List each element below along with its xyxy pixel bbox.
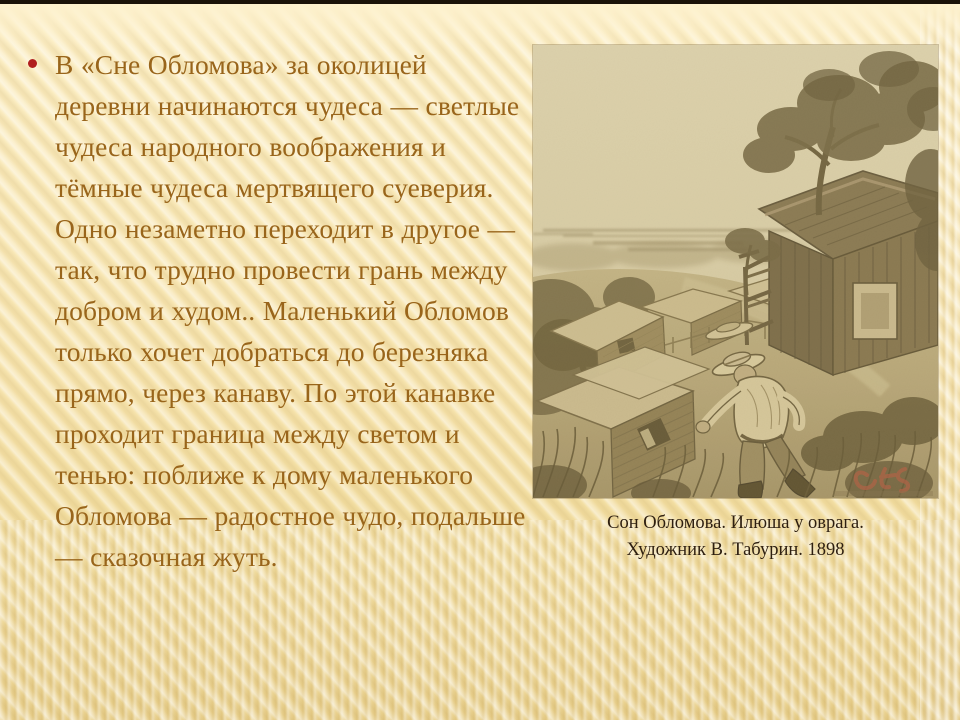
illustration-image — [533, 45, 938, 498]
illustration-caption: Сон Обломова. Илюша у оврага. Художник В… — [533, 510, 938, 564]
illustration-figure — [533, 45, 938, 498]
caption-line-1: Сон Обломова. Илюша у оврага. — [533, 510, 938, 537]
body-paragraph: В «Сне Обломова» за околицей деревни нач… — [55, 44, 528, 577]
bullet-list-item: В «Сне Обломова» за околицей деревни нач… — [28, 44, 528, 577]
presentation-slide: В «Сне Обломова» за околицей деревни нач… — [0, 0, 960, 720]
bullet-point-icon — [28, 59, 37, 68]
body-text-block: В «Сне Обломова» за околицей деревни нач… — [28, 44, 528, 577]
caption-line-2: Художник В. Табурин. 1898 — [533, 537, 938, 564]
